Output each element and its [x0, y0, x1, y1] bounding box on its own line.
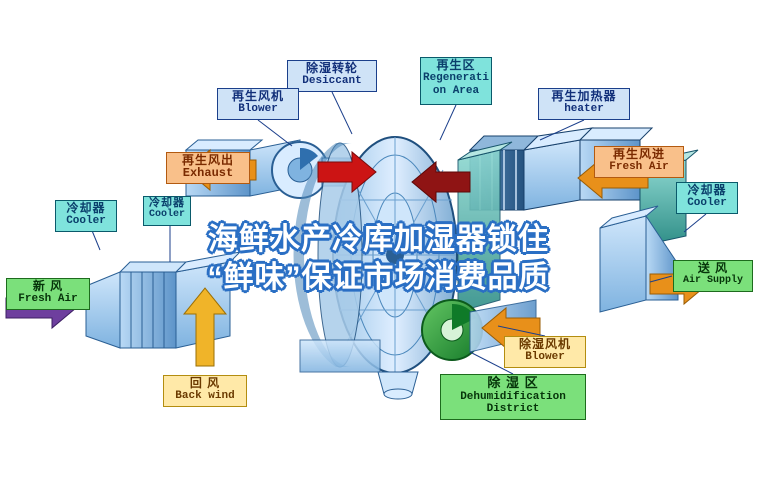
label-cooler-right: 冷却器 Cooler	[676, 182, 738, 214]
label-en: Desiccant	[288, 75, 376, 87]
label-en: Blower	[505, 351, 585, 363]
label-dehumidification-district: 除 湿 区 Dehumidification District	[440, 374, 586, 420]
label-cn: 再生风出	[167, 154, 249, 167]
label-regeneration-heater: 再生加热器 heater	[538, 88, 630, 120]
label-en: Exhaust	[167, 167, 249, 180]
label-cn: 再生风进	[595, 148, 683, 161]
label-cn: 再生区	[421, 59, 491, 72]
label-desiccant-wheel: 除湿转轮 Desiccant	[287, 60, 377, 92]
diagram-canvas: 除湿转轮 Desiccant 再生区 Regenerati on Area 再生…	[0, 0, 757, 488]
label-cn: 冷却器	[677, 184, 737, 197]
label-regeneration-area: 再生区 Regenerati on Area	[420, 57, 492, 105]
label-cn: 除湿转轮	[288, 62, 376, 75]
label-regeneration-blower: 再生风机 Blower	[217, 88, 299, 120]
label-en: Fresh Air	[595, 161, 683, 173]
label-cn: 除湿风机	[505, 338, 585, 351]
label-en: Dehumidification District	[441, 391, 585, 416]
label-cn: 再生风机	[218, 90, 298, 103]
watermark-line-2: “鲜味”保证市场消费品质	[0, 252, 757, 296]
label-cn: 冷却器	[144, 197, 190, 209]
label-cn: 回 风	[164, 377, 246, 390]
label-en: heater	[539, 103, 629, 115]
label-en: Blower	[218, 103, 298, 115]
label-cn: 除 湿 区	[441, 376, 585, 391]
label-regeneration-exhaust: 再生风出 Exhaust	[166, 152, 250, 184]
label-back-wind: 回 风 Back wind	[163, 375, 247, 407]
label-regeneration-intake: 再生风进 Fresh Air	[594, 146, 684, 178]
label-en: Cooler	[677, 197, 737, 209]
label-en: Regenerati on Area	[421, 72, 491, 97]
label-en: Back wind	[164, 390, 246, 402]
label-dehumidify-blower: 除湿风机 Blower	[504, 336, 586, 368]
label-cn: 再生加热器	[539, 90, 629, 103]
